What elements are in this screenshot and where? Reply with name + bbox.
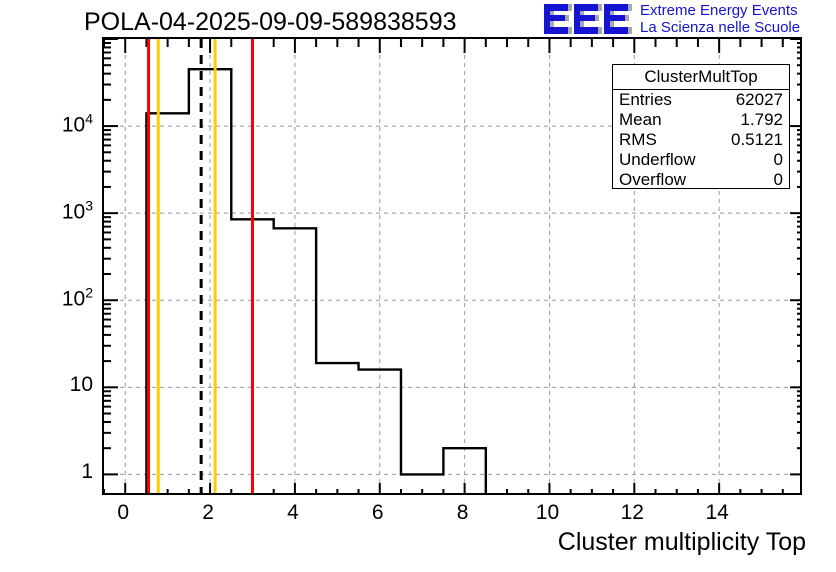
logo-line-1: Extreme Energy Events — [640, 2, 830, 19]
logo-e-2 — [574, 4, 598, 34]
stats-row-value: 0.5121 — [731, 130, 783, 150]
stats-row: RMS0.5121 — [613, 130, 789, 150]
y-axis-tick-label: 103 — [0, 198, 93, 225]
stats-row: Overflow0 — [613, 170, 789, 190]
x-axis-tick-label: 12 — [621, 501, 644, 525]
stats-row-value: 0 — [774, 150, 783, 170]
x-axis-tick-label: 8 — [457, 501, 469, 525]
root-canvas: POLA-04-2025-09-09-589838593 Extreme Ene… — [0, 0, 836, 572]
stats-row-key: Overflow — [619, 170, 686, 190]
page-title: POLA-04-2025-09-09-589838593 — [84, 8, 457, 37]
stats-row-value: 62027 — [736, 90, 783, 110]
histogram-outline — [146, 69, 485, 493]
stats-row: Entries62027 — [613, 90, 789, 110]
stats-row-value: 1.792 — [740, 110, 783, 130]
stats-row-key: Mean — [619, 110, 662, 130]
stats-row: Mean1.792 — [613, 110, 789, 130]
x-axis-tick-label: 4 — [287, 501, 299, 525]
stats-box: ClusterMultTop Entries62027Mean1.792RMS0… — [612, 64, 790, 189]
stats-row: Underflow0 — [613, 150, 789, 170]
x-axis-tick-label: 0 — [117, 501, 129, 525]
logo-line-2: La Scienza nelle Scuole — [640, 19, 830, 36]
x-axis-title: Cluster multiplicity Top — [558, 528, 806, 557]
stats-row-key: RMS — [619, 130, 657, 150]
logo-e-3 — [604, 4, 628, 34]
x-axis-tick-label: 6 — [372, 501, 384, 525]
y-axis-tick-label: 10 — [0, 373, 93, 397]
stats-rows: Entries62027Mean1.792RMS0.5121Underflow0… — [613, 90, 789, 190]
stats-box-title: ClusterMultTop — [613, 65, 789, 90]
logo-text: Extreme Energy Events La Scienza nelle S… — [640, 2, 830, 36]
x-axis-tick-label: 2 — [202, 501, 214, 525]
eee-logo: Extreme Energy Events La Scienza nelle S… — [540, 2, 832, 38]
stats-row-key: Underflow — [619, 150, 696, 170]
y-axis-tick-label: 104 — [0, 111, 93, 138]
stats-row-value: 0 — [774, 170, 783, 190]
x-axis-tick-label: 14 — [705, 501, 728, 525]
logo-e-1 — [544, 4, 568, 34]
y-axis-tick-label: 1 — [0, 460, 93, 484]
y-axis-tick-label: 102 — [0, 285, 93, 312]
x-axis-tick-label: 10 — [536, 501, 559, 525]
stats-row-key: Entries — [619, 90, 672, 110]
